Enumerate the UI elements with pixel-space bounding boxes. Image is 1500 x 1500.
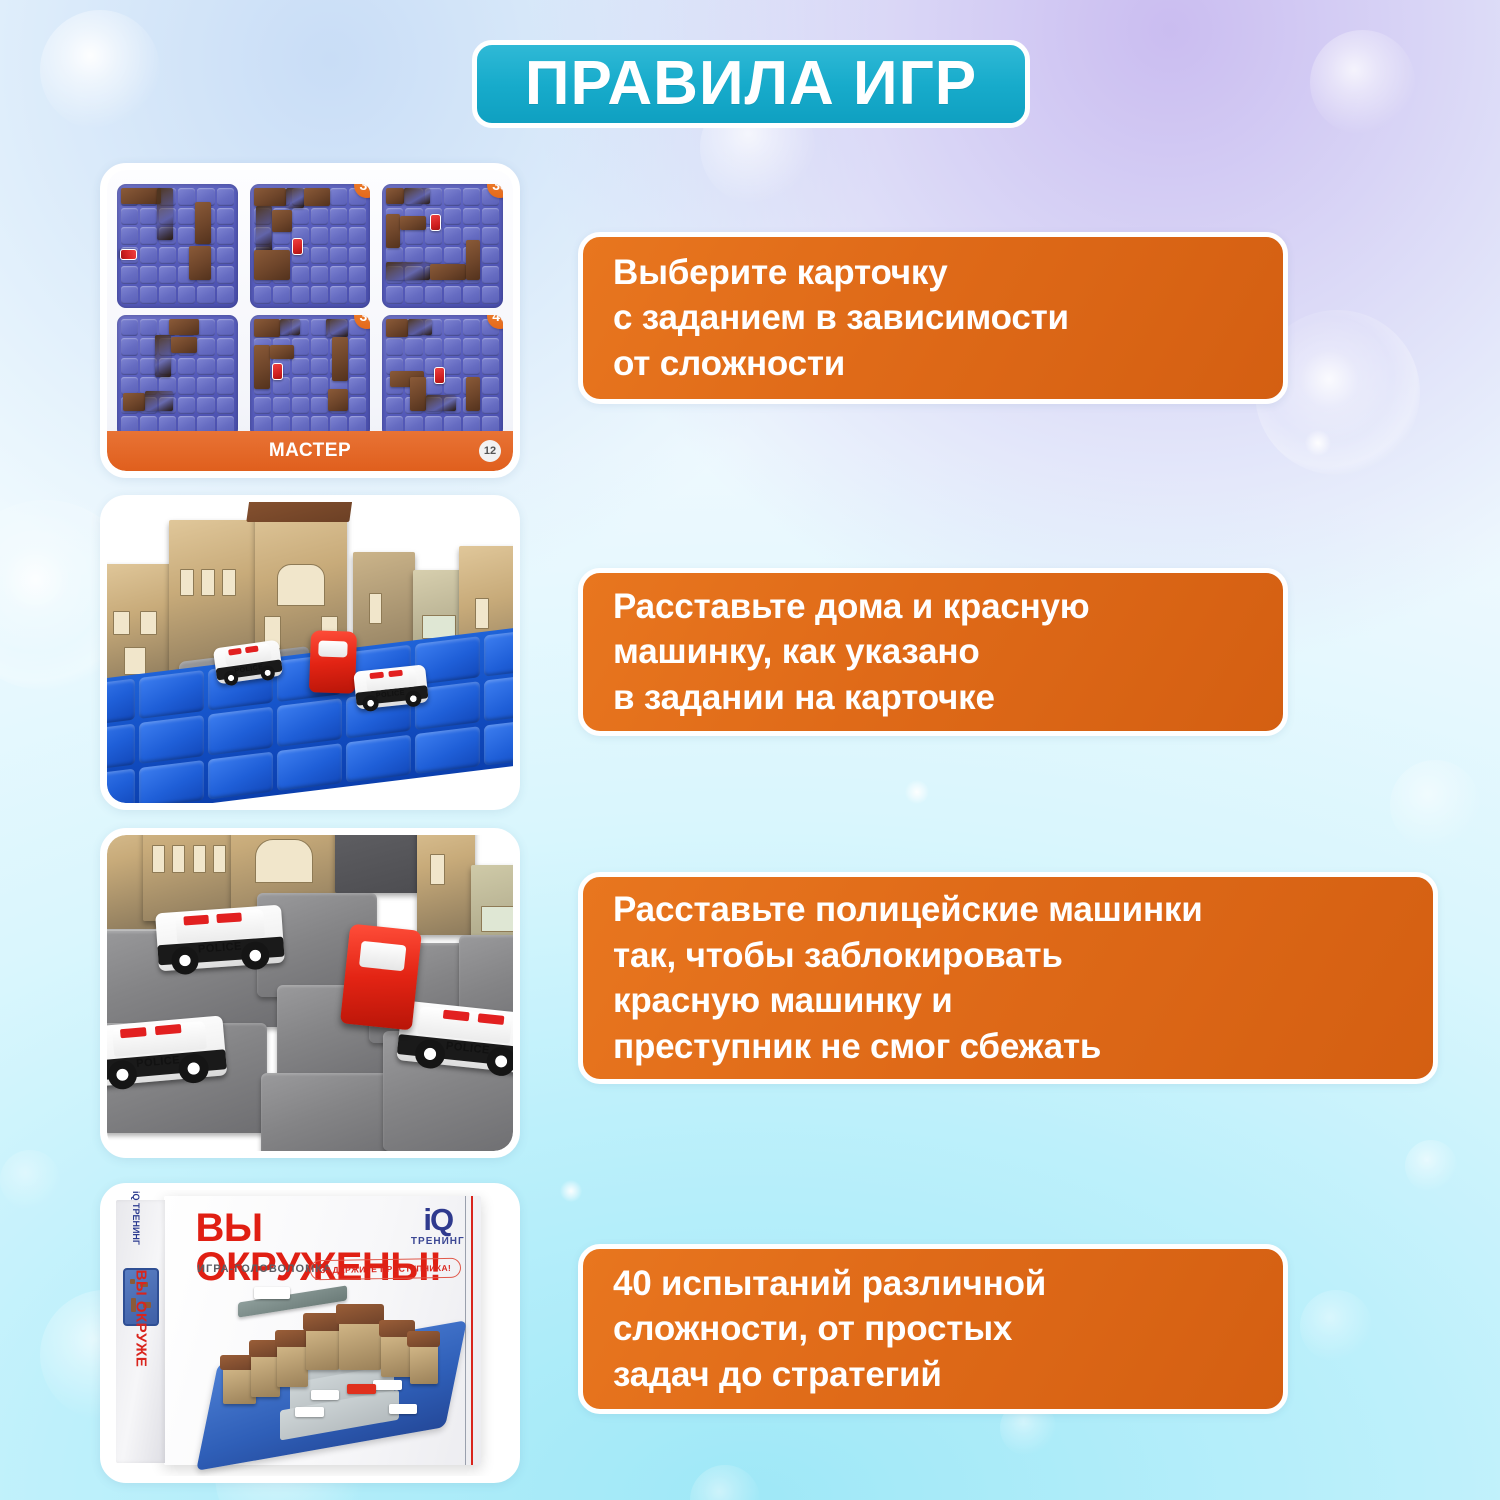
house-window <box>201 569 215 596</box>
road-tile <box>261 1073 391 1151</box>
house-piece <box>328 389 348 411</box>
red-car <box>309 630 357 694</box>
photo-card-board-setup: POLICE POLICE <box>100 495 520 810</box>
car-windshield <box>318 640 347 657</box>
red-car <box>340 924 422 1031</box>
house-piece <box>272 210 292 232</box>
mini-puzzle-board <box>117 315 238 439</box>
house-window <box>124 647 146 675</box>
car-windshield <box>359 941 406 972</box>
house-piece <box>121 188 161 204</box>
house-piece <box>157 188 173 240</box>
house-piece <box>280 319 300 335</box>
photo-card-cards-booklet: 37 <box>100 163 520 478</box>
box-badge: ЗАДЕРЖИТЕ ПРЕСТУПНИКА! <box>310 1258 462 1281</box>
box-title-line-1: ВЫ <box>195 1209 441 1248</box>
bokeh-orb <box>1405 1140 1457 1192</box>
house-piece <box>254 250 290 280</box>
board-cells <box>121 319 234 435</box>
diorama-house <box>410 1344 439 1384</box>
house-piece <box>386 262 430 280</box>
bokeh-orb <box>690 1465 760 1500</box>
house-roof <box>247 502 355 522</box>
house-window <box>113 611 130 635</box>
house-window <box>475 598 490 629</box>
bokeh-orb <box>0 1150 60 1210</box>
diorama-red-car <box>347 1384 376 1394</box>
red-car-piece <box>272 363 283 380</box>
diorama-police-car <box>254 1287 290 1299</box>
mini-puzzle-board: 39 <box>250 315 371 439</box>
house-window <box>430 854 445 884</box>
house-piece <box>404 188 430 204</box>
house-piece <box>254 319 280 337</box>
page-number: 12 <box>479 440 501 462</box>
red-car-piece <box>292 238 303 255</box>
box-front-diorama <box>202 1287 462 1454</box>
game-board-scene: POLICE POLICE <box>107 502 513 803</box>
house-window <box>481 906 513 932</box>
house-piece <box>332 337 348 381</box>
house-window <box>277 564 325 606</box>
bokeh-orb <box>905 780 929 804</box>
house-window <box>152 845 165 873</box>
spine-logo: iQ ТРЕНИНГ <box>131 1191 141 1245</box>
mini-puzzle-board: 40 <box>382 315 503 439</box>
house-piece <box>426 395 456 411</box>
poster-root: ПРАВИЛА ИГР <box>0 0 1500 1500</box>
police-car: POLICE <box>213 640 283 685</box>
photo-inner: POLICE POLICE <box>107 835 513 1151</box>
house-piece <box>386 188 404 204</box>
step-callout-3-text: Расставьте полицейские машинки так, чтоб… <box>583 887 1233 1069</box>
house-window <box>255 839 313 883</box>
house-piece <box>254 345 270 389</box>
booklet-footer: МАСТЕР 12 <box>107 431 513 471</box>
photo-inner: 37 <box>107 170 513 471</box>
box-spine: iQ ТРЕНИНГ ВЫ ОКРУЖЕ <box>116 1200 165 1463</box>
house-piece <box>304 188 330 206</box>
house-piece <box>466 377 480 411</box>
toy-house <box>107 564 177 682</box>
house-piece <box>386 319 408 337</box>
diorama-police-car <box>311 1390 340 1400</box>
house-window <box>213 845 226 873</box>
diorama-police-car <box>295 1407 324 1417</box>
house-piece <box>256 206 272 252</box>
mini-puzzle-board: 37 <box>250 184 371 308</box>
police-car: POLICE <box>155 905 285 972</box>
house-piece <box>408 319 432 335</box>
board-cells <box>386 188 499 304</box>
police-car: POLICE <box>107 1015 227 1086</box>
house-piece <box>145 391 173 411</box>
house-window <box>193 845 206 873</box>
house-piece <box>430 264 466 280</box>
step-callout-2: Расставьте дома и красную машинку, как у… <box>578 568 1288 736</box>
house-piece <box>189 246 211 280</box>
house-piece <box>270 345 294 359</box>
step-callout-4-text: 40 испытаний различной сложности, от про… <box>583 1261 1076 1398</box>
house-piece <box>195 202 211 244</box>
police-car: POLICE <box>353 664 429 709</box>
house-piece <box>286 188 304 208</box>
page-title: ПРАВИЛА ИГР <box>525 53 977 115</box>
box-accent-stripe <box>465 1196 466 1465</box>
step-callout-4: 40 испытаний различной сложности, от про… <box>578 1244 1288 1414</box>
diorama-police-car <box>389 1404 418 1414</box>
page-title-banner: ПРАВИЛА ИГР <box>472 40 1030 128</box>
photo-card-product-box: iQ ТРЕНИНГ ВЫ ОКРУЖЕ <box>100 1183 520 1483</box>
step-callout-3: Расставьте полицейские машинки так, чтоб… <box>578 872 1438 1084</box>
diorama-house <box>277 1344 308 1387</box>
diorama-house <box>339 1320 381 1370</box>
mini-puzzle-board <box>117 184 238 308</box>
diorama-police-car <box>373 1380 402 1390</box>
diorama-house <box>251 1354 280 1397</box>
puzzle-booklet-page: 37 <box>107 170 513 471</box>
house-piece <box>155 335 171 377</box>
step-callout-2-text: Расставьте дома и красную машинку, как у… <box>583 584 1120 721</box>
house-window <box>222 569 236 596</box>
photo-card-blocking-closeup: POLICE POLICE <box>100 828 520 1158</box>
bokeh-orb <box>560 1180 582 1202</box>
bokeh-orb <box>40 10 160 130</box>
mini-puzzle-board: 38 <box>382 184 503 308</box>
bokeh-orb <box>1305 430 1331 456</box>
red-car-piece <box>430 214 441 231</box>
bokeh-orb <box>1390 760 1480 850</box>
house-wall <box>417 835 475 935</box>
house-roof <box>452 517 513 559</box>
house-piece <box>466 240 480 280</box>
photo-inner: POLICE POLICE <box>107 502 513 803</box>
house-window <box>140 611 157 635</box>
red-car-piece <box>120 249 137 260</box>
step-callout-1: Выберите карточку с заданием в зависимос… <box>578 232 1288 404</box>
step-callout-1-text: Выберите карточку с заданием в зависимос… <box>583 250 1099 387</box>
toy-house <box>417 835 475 935</box>
house-piece <box>169 319 199 335</box>
box-accent-stripe <box>471 1196 473 1465</box>
product-box: iQ ТРЕНИНГ ВЫ ОКРУЖЕ <box>164 1196 481 1465</box>
house-piece <box>326 319 348 337</box>
house-piece <box>171 337 197 353</box>
house-window <box>172 845 185 873</box>
house-piece <box>410 377 426 411</box>
house-piece <box>386 214 400 248</box>
house-piece <box>400 216 426 230</box>
difficulty-level-label: МАСТЕР <box>269 440 351 462</box>
house-window <box>180 569 194 596</box>
red-car-piece <box>434 367 445 384</box>
bokeh-orb <box>1310 30 1415 135</box>
diorama-house <box>306 1327 340 1370</box>
photo-inner: iQ ТРЕНИНГ ВЫ ОКРУЖЕ <box>107 1190 513 1476</box>
board-cells <box>121 188 234 304</box>
puzzle-grid: 37 <box>111 180 509 442</box>
house-wall <box>335 835 419 893</box>
product-box-scene: iQ ТРЕНИНГ ВЫ ОКРУЖЕ <box>107 1190 513 1476</box>
house-roof <box>347 528 421 562</box>
spine-title: ВЫ ОКРУЖЕ <box>132 1270 149 1368</box>
house-piece <box>123 393 145 411</box>
house-piece <box>254 188 286 206</box>
blocking-closeup-scene: POLICE POLICE <box>107 835 513 1151</box>
house-window <box>369 593 381 624</box>
bokeh-orb <box>1300 1290 1372 1362</box>
toy-house <box>335 835 419 893</box>
